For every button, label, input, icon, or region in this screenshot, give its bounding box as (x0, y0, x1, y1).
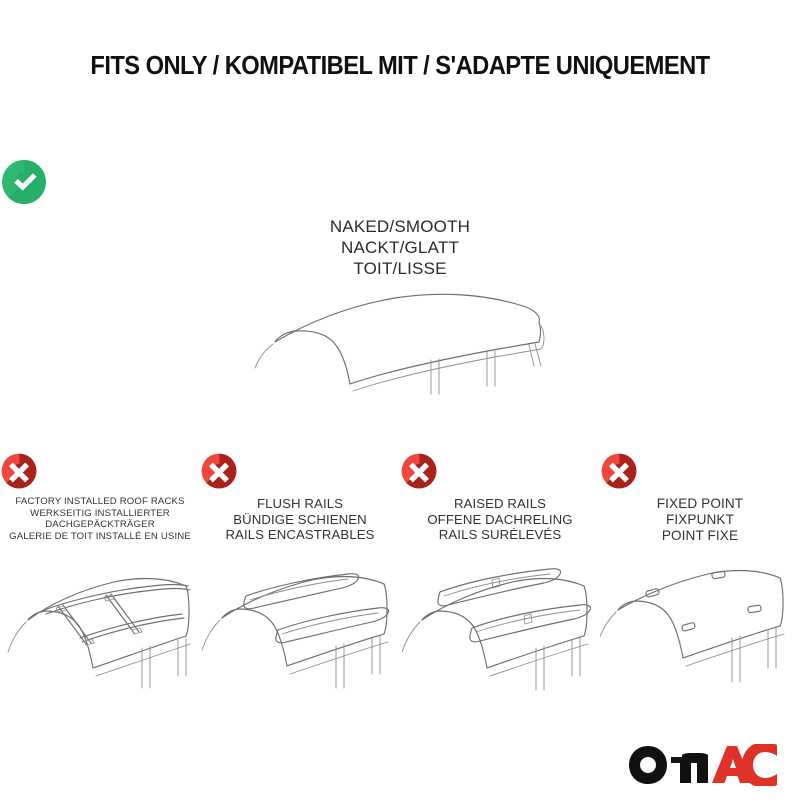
compatible-section: NAKED/SMOOTH NACKT/GLATT TOIT/LISSE (0, 158, 800, 279)
incompatible-label-fr: RAILS SURÉLEVÉS (400, 527, 600, 543)
smooth-roof-illustration (0, 276, 800, 401)
incompatible-section: FACTORY INSTALLED ROOF RACKS WERKSEITIG … (0, 452, 800, 544)
check-circle-icon (0, 158, 800, 206)
incompatible-column-raised-rails: RAISED RAILS OFFENE DACHRELING RAILS SUR… (400, 452, 600, 544)
incompatible-label-de-1: WERKSEITIG INSTALLIERTER (0, 508, 200, 520)
incompatible-labels: FACTORY INSTALLED ROOF RACKS WERKSEITIG … (0, 496, 200, 542)
raised-rails-illustration (400, 548, 600, 698)
incompatible-label-fr: RAILS ENCASTRABLES (200, 527, 400, 543)
incompatible-labels: FLUSH RAILS BÜNDIGE SCHIENEN RAILS ENCAS… (200, 496, 400, 543)
cross-circle-icon (600, 452, 800, 490)
incompatible-label-fr: POINT FIXE (600, 528, 800, 544)
omac-logo (628, 744, 778, 786)
compatible-label-en: NAKED/SMOOTH (0, 216, 800, 237)
incompatible-label-de: OFFENE DACHRELING (400, 512, 600, 528)
incompatible-column-flush-rails: FLUSH RAILS BÜNDIGE SCHIENEN RAILS ENCAS… (200, 452, 400, 544)
fixed-point-illustration (600, 548, 800, 698)
cross-circle-icon (200, 452, 400, 490)
cross-circle-icon (0, 452, 200, 490)
incompatible-labels: FIXED POINT FIXPUNKT POINT FIXE (600, 496, 800, 544)
compatible-label-de: NACKT/GLATT (0, 237, 800, 258)
factory-roof-rack-illustration (0, 548, 200, 698)
incompatible-label-en: FACTORY INSTALLED ROOF RACKS (0, 496, 200, 508)
cross-circle-icon (400, 452, 600, 490)
incompatible-label-de: BÜNDIGE SCHIENEN (200, 512, 400, 528)
roof-illustration-row (0, 548, 800, 698)
incompatible-column-fixed-point: FIXED POINT FIXPUNKT POINT FIXE (600, 452, 800, 544)
flush-rails-illustration (200, 548, 400, 698)
incompatible-label-fr: GALERIE DE TOIT INSTALLÉ EN USINE (0, 531, 200, 543)
compatible-labels: NAKED/SMOOTH NACKT/GLATT TOIT/LISSE (0, 216, 800, 279)
incompatible-label-de-2: DACHGEPÄCKTRÄGER (0, 519, 200, 531)
incompatible-label-de: FIXPUNKT (600, 512, 800, 528)
incompatible-labels: RAISED RAILS OFFENE DACHRELING RAILS SUR… (400, 496, 600, 543)
incompatible-label-en: FLUSH RAILS (200, 496, 400, 512)
incompatible-label-en: FIXED POINT (600, 496, 800, 512)
incompatible-label-en: RAISED RAILS (400, 496, 600, 512)
page-title: FITS ONLY / KOMPATIBEL MIT / S'ADAPTE UN… (28, 52, 772, 81)
incompatible-column-factory-roof-racks: FACTORY INSTALLED ROOF RACKS WERKSEITIG … (0, 452, 200, 544)
